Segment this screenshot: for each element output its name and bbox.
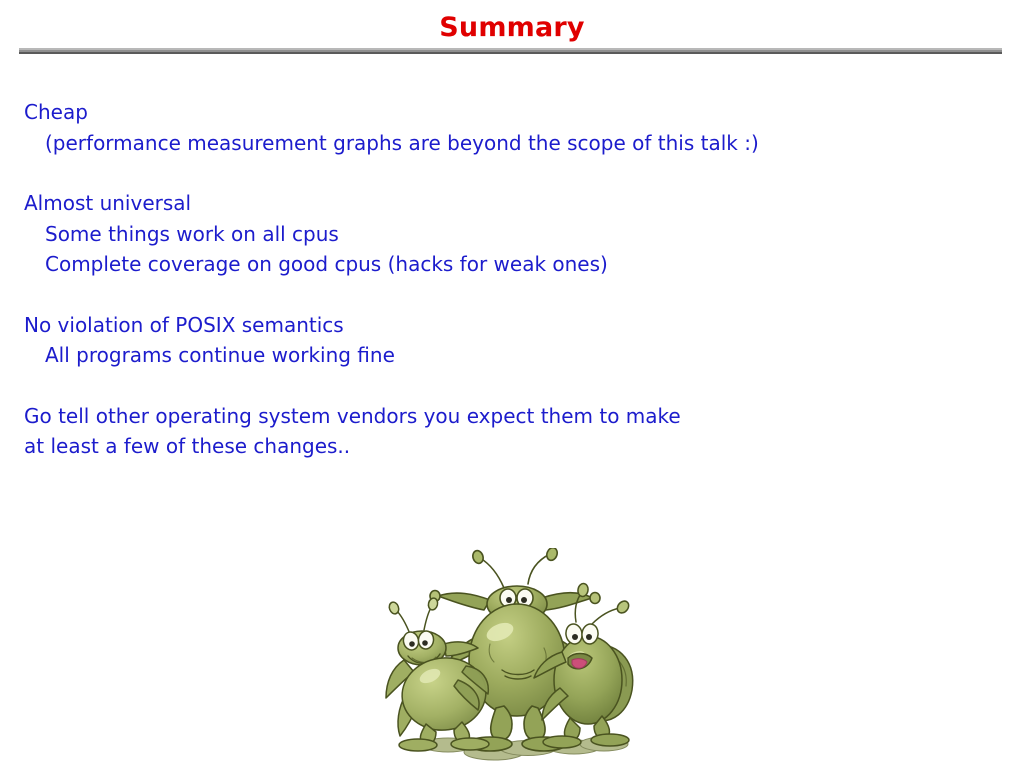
- bullet-line: Some things work on all cpus: [24, 219, 984, 250]
- bullet-block-call-to-action: Go tell other operating system vendors y…: [24, 401, 984, 462]
- bullet-block-almost-universal: Almost universal Some things work on all…: [24, 188, 984, 280]
- bullet-line: No violation of POSIX semantics: [24, 310, 984, 341]
- bullet-block-posix: No violation of POSIX semantics All prog…: [24, 310, 984, 371]
- bullet-line: Almost universal: [24, 188, 984, 219]
- bullet-line: Go tell other operating system vendors y…: [24, 401, 984, 432]
- antenna-group-left: [396, 606, 432, 634]
- bug-left: [386, 597, 491, 751]
- bugs-clipart-image: [378, 548, 646, 764]
- body-right: [554, 636, 622, 724]
- slide: Summary Cheap (performance measurement g…: [0, 0, 1024, 768]
- bullet-line: at least a few of these changes..: [24, 431, 984, 462]
- title-divider-rule: [19, 48, 1002, 54]
- bullet-line: Cheap: [24, 97, 984, 128]
- bullet-line: All programs continue working fine: [24, 340, 984, 371]
- bullet-line: Complete coverage on good cpus (hacks fo…: [24, 249, 984, 280]
- antenna-group-center: [480, 554, 550, 588]
- antenna-tips-left: [388, 597, 439, 615]
- bullet-block-cheap: Cheap (performance measurement graphs ar…: [24, 97, 984, 158]
- slide-body: Cheap (performance measurement graphs ar…: [24, 97, 984, 462]
- bullet-line: (performance measurement graphs are beyo…: [24, 128, 984, 159]
- page-title: Summary: [0, 13, 1024, 43]
